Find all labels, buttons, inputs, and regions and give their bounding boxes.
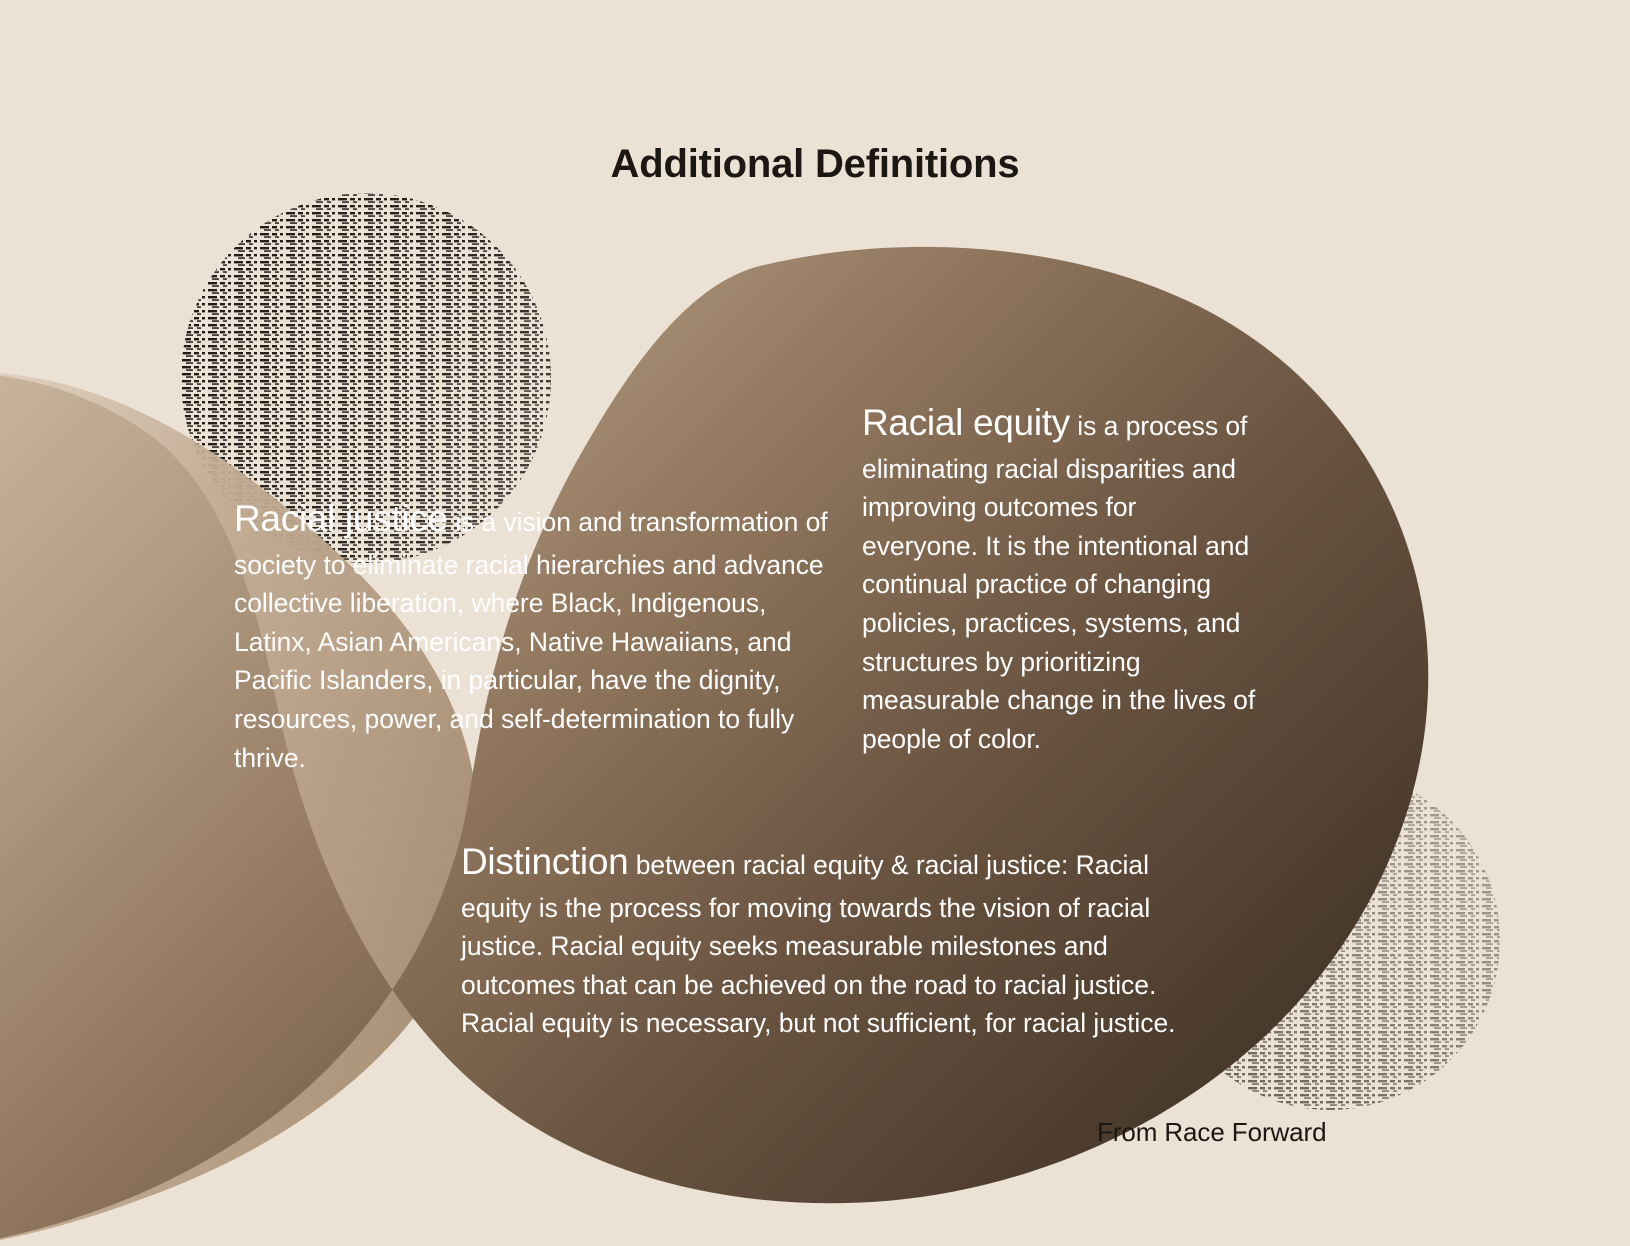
definition-racial-justice: Racial justice is a vision and transform… (234, 492, 834, 777)
definition-text: is a vision and transformation of societ… (234, 507, 828, 773)
page-title: Additional Definitions (0, 142, 1630, 187)
texture-circle-lower-right (1160, 770, 1500, 1110)
definition-text: is a process of eliminating racial dispa… (862, 411, 1255, 754)
definition-term: Racial justice (234, 498, 448, 539)
definition-distinction: Distinction between racial equity & raci… (461, 835, 1201, 1043)
definition-term: Racial equity (862, 402, 1070, 443)
definition-racial-equity: Racial equity is a process of eliminatin… (862, 396, 1257, 758)
source-attribution: From Race Forward (1097, 1117, 1326, 1148)
definition-paragraph: Distinction between racial equity & raci… (461, 835, 1201, 1043)
definition-paragraph: Racial justice is a vision and transform… (234, 492, 834, 777)
definition-paragraph: Racial equity is a process of eliminatin… (862, 396, 1257, 758)
definition-term: Distinction (461, 841, 628, 882)
slide-canvas: Additional Definitions Racial justice is… (0, 0, 1630, 1246)
